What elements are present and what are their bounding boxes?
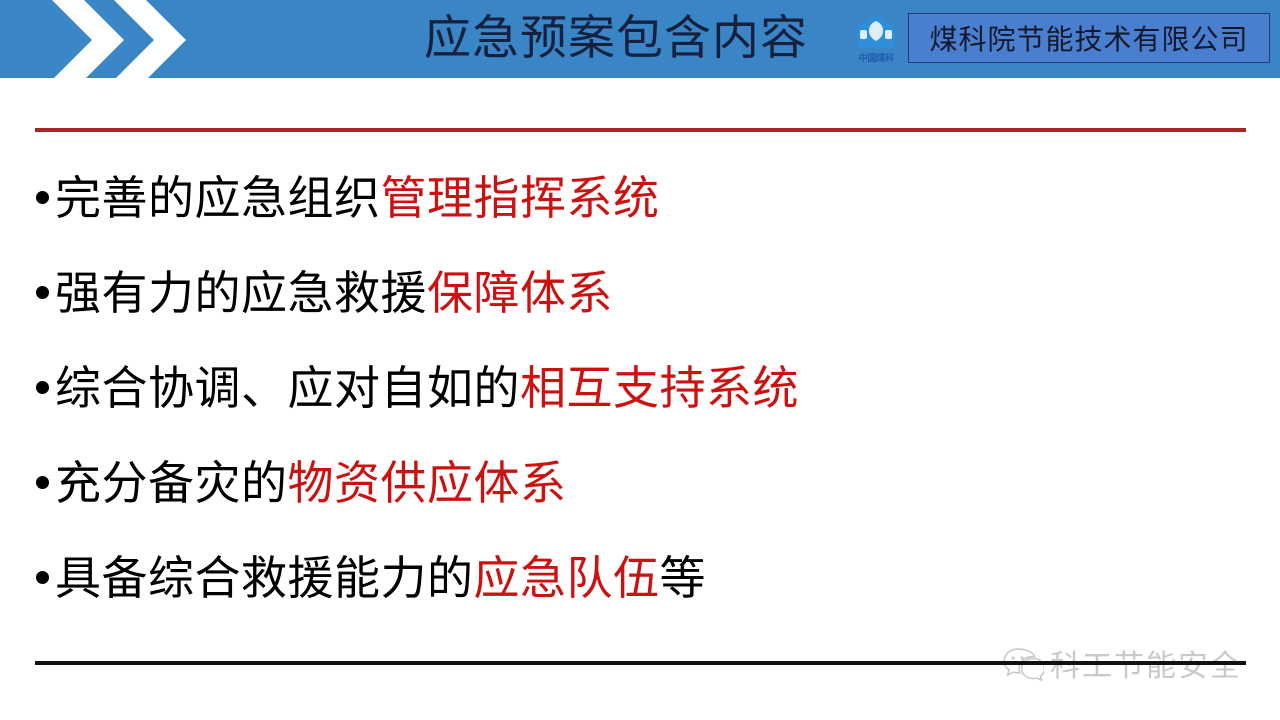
- list-item: 综合协调、应对自如的相互支持系统: [36, 340, 1246, 435]
- list-item-text-plain: 完善的应急组织: [55, 171, 381, 225]
- bullet-dot-icon: [36, 286, 49, 299]
- list-item: 强有力的应急救援保障体系: [36, 245, 1246, 340]
- bullet-dot-icon: [36, 191, 49, 204]
- bullet-dot-icon: [36, 381, 49, 394]
- list-item: 充分备灾的物资供应体系: [36, 435, 1246, 530]
- double-chevron-right-icon: [40, 0, 230, 78]
- list-item-text-highlight: 相互支持系统: [520, 361, 799, 415]
- list-item: 完善的应急组织管理指挥系统: [36, 150, 1246, 245]
- list-item-text-highlight: 应急队伍: [474, 551, 660, 605]
- bullet-list: 完善的应急组织管理指挥系统 强有力的应急救援保障体系 综合协调、应对自如的相互支…: [36, 150, 1246, 625]
- china-coal-technology-logo: 中国煤科: [848, 14, 904, 68]
- company-name-label: 煤科院节能技术有限公司: [929, 18, 1248, 58]
- list-item-text-plain: 综合协调、应对自如的: [55, 361, 520, 415]
- list-item-text: 完善的应急组织管理指挥系统: [55, 175, 660, 221]
- slide-header-band: 应急预案包含内容 中国煤科 煤科院节能技术有限公司: [0, 0, 1280, 78]
- list-item-text: 综合协调、应对自如的相互支持系统: [55, 365, 799, 411]
- page-title: 应急预案包含内容: [424, 4, 808, 74]
- top-divider-line: [35, 128, 1246, 132]
- list-item-text-highlight: 物资供应体系: [288, 456, 567, 510]
- list-item-text: 强有力的应急救援保障体系: [55, 270, 613, 316]
- company-name-box: 煤科院节能技术有限公司: [908, 13, 1270, 63]
- list-item-text-tail: 等: [660, 551, 707, 605]
- list-item: 具备综合救援能力的应急队伍等: [36, 530, 1246, 625]
- chevron-right-icon-2: [102, 0, 192, 78]
- list-item-text: 具备综合救援能力的应急队伍等: [55, 555, 706, 601]
- list-item-text-plain: 具备综合救援能力的: [55, 551, 474, 605]
- logo-mark-icon: [854, 14, 898, 55]
- logo-caption: 中国煤科: [850, 50, 902, 64]
- bullet-dot-icon: [36, 476, 49, 489]
- bullet-dot-icon: [36, 571, 49, 584]
- list-item-text-highlight: 管理指挥系统: [381, 171, 660, 225]
- list-item-text-highlight: 保障体系: [427, 266, 613, 320]
- list-item-text-plain: 充分备灾的: [55, 456, 288, 510]
- bottom-divider-line: [35, 661, 1246, 665]
- list-item-text: 充分备灾的物资供应体系: [55, 460, 567, 506]
- list-item-text-plain: 强有力的应急救援: [55, 266, 427, 320]
